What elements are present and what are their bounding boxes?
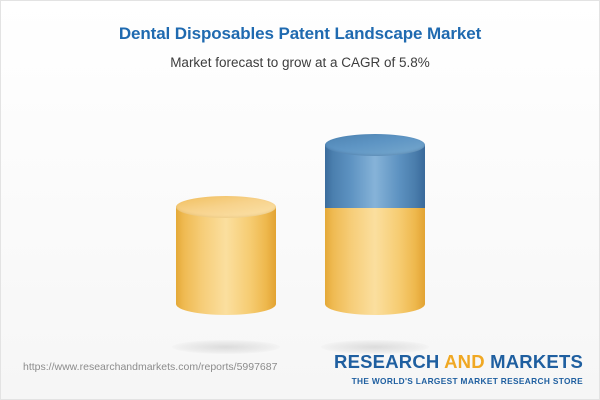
- bar-cylinder-2024[interactable]: [176, 196, 276, 304]
- brand-name-part1: RESEARCH: [334, 351, 444, 372]
- footer: https://www.researchandmarkets.com/repor…: [1, 347, 599, 399]
- bar-top-cap: [176, 196, 276, 218]
- brand-name-part2: MARKETS: [485, 351, 583, 372]
- source-url[interactable]: https://www.researchandmarkets.com/repor…: [23, 361, 277, 373]
- bar-cylinder-2032[interactable]: [325, 134, 425, 304]
- bar-segment-base-2024: [176, 196, 276, 304]
- chart-plot-area: USD 4.3 Billion 2024 USD 6.7 Billion: [1, 1, 599, 349]
- brand-name-and: AND: [444, 351, 485, 372]
- bar-body: [325, 196, 425, 304]
- brand-tagline: THE WORLD'S LARGEST MARKET RESEARCH STOR…: [334, 377, 583, 385]
- bar-body: [176, 207, 276, 304]
- brand-logo: RESEARCH AND MARKETS THE WORLD'S LARGEST…: [334, 353, 583, 385]
- brand-name: RESEARCH AND MARKETS: [334, 353, 583, 372]
- bar-top-cap: [325, 134, 425, 156]
- bar-segment-growth-2032: [325, 134, 425, 208]
- market-forecast-infographic: Dental Disposables Patent Landscape Mark…: [0, 0, 600, 400]
- bar-segment-base-2032: [325, 196, 425, 304]
